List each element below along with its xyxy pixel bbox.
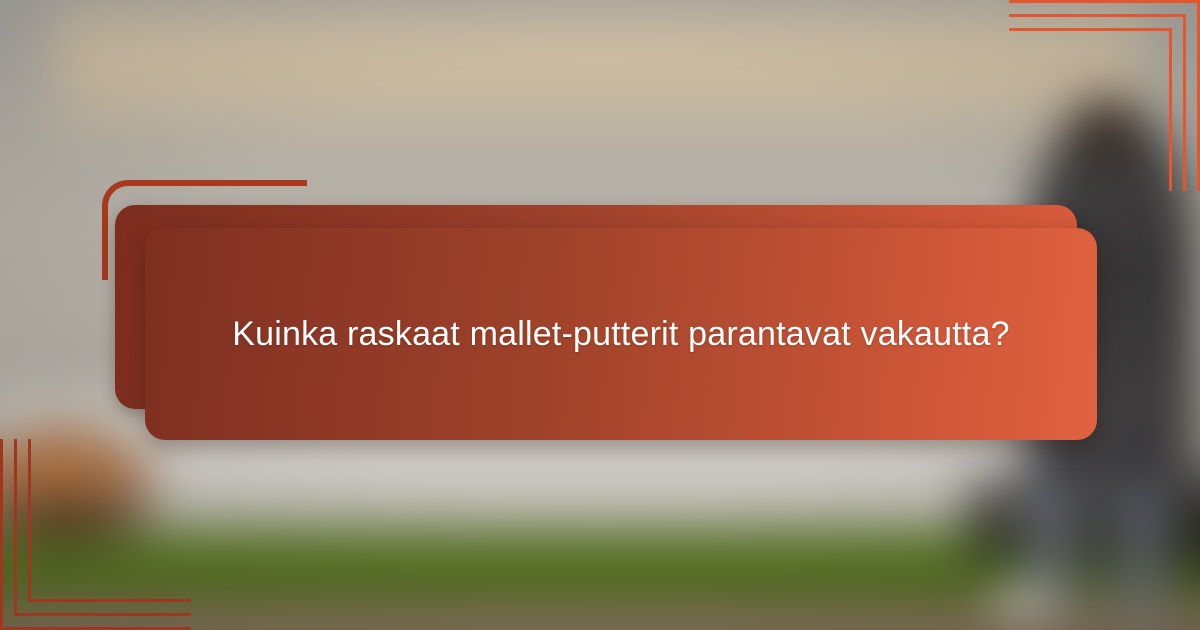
background-person-head [1069,96,1145,164]
screenshot-canvas: Kuinka raskaat mallet-putterit parantava… [0,0,1200,630]
page-title: Kuinka raskaat mallet-putterit parantava… [145,309,1097,359]
title-card: Kuinka raskaat mallet-putterit parantava… [145,228,1097,440]
background-person-shoe [989,585,1053,617]
background-beige-band [54,0,1145,148]
